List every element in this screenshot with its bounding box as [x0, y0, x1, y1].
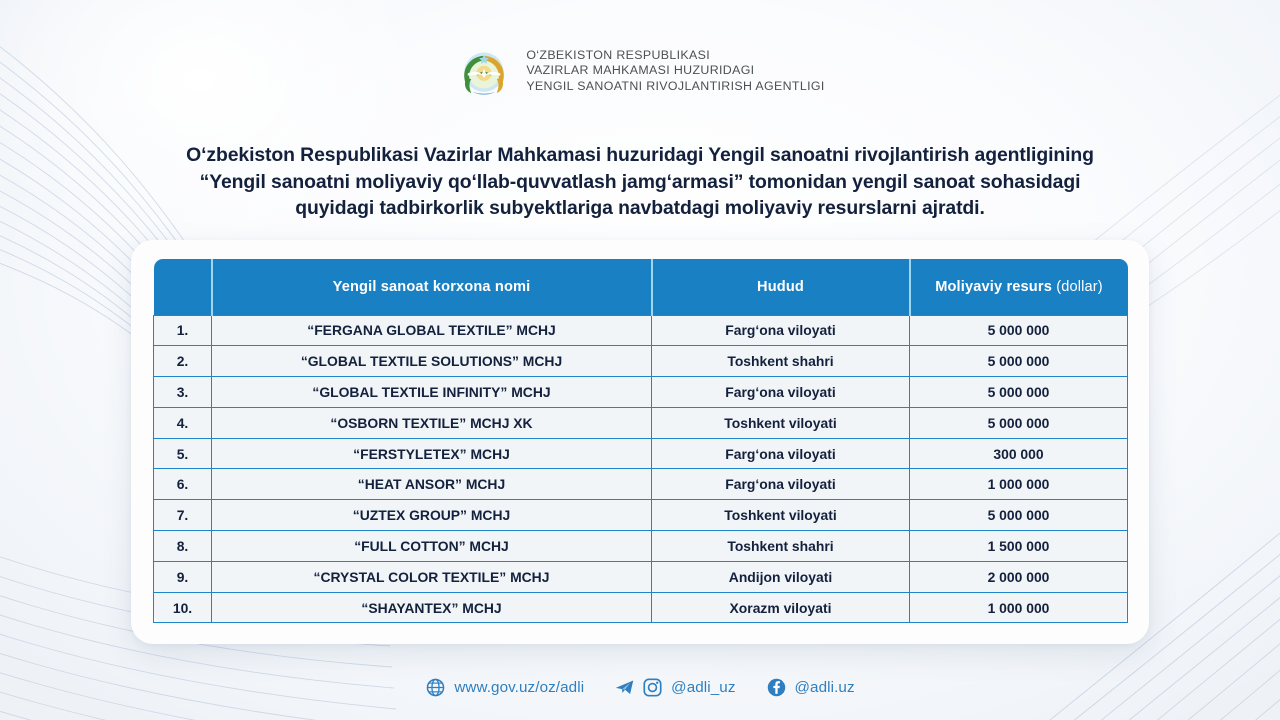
page-title: O‘zbekiston Respublikasi Vazirlar Mahkam… [160, 142, 1120, 222]
cell-region: Toshkent viloyati [652, 500, 910, 531]
cell-region: Toshkent shahri [652, 531, 910, 562]
facebook-handle-label: @adli.uz [795, 679, 855, 696]
table-row: 6.“HEAT ANSOR” MCHJFarg‘ona viloyati1 00… [154, 469, 1128, 500]
cell-number: 1. [154, 315, 212, 346]
cell-region: Andijon viloyati [652, 561, 910, 592]
table-row: 8.“FULL COTTON” MCHJToshkent shahri1 500… [154, 531, 1128, 562]
cell-number: 6. [154, 469, 212, 500]
cell-region: Farg‘ona viloyati [652, 377, 910, 408]
cell-company-name: “HEAT ANSOR” MCHJ [212, 469, 652, 500]
table-header-row: Yengil sanoat korxona nomi Hudud Moliyav… [154, 259, 1128, 315]
cell-company-name: “GLOBAL TEXTILE INFINITY” MCHJ [212, 377, 652, 408]
cell-company-name: “FERSTYLETEX” MCHJ [212, 438, 652, 469]
cell-company-name: “CRYSTAL COLOR TEXTILE” MCHJ [212, 561, 652, 592]
cell-number: 2. [154, 346, 212, 377]
table-row: 2.“GLOBAL TEXTILE SOLUTIONS” MCHJToshken… [154, 346, 1128, 377]
column-header-number [154, 259, 212, 315]
footer-website[interactable]: www.gov.uz/oz/adli [425, 677, 584, 698]
telegram-icon[interactable] [614, 677, 635, 698]
cell-amount: 1 000 000 [910, 469, 1128, 500]
cell-number: 9. [154, 561, 212, 592]
cell-company-name: “UZTEX GROUP” MCHJ [212, 500, 652, 531]
table-body: 1.“FERGANA GLOBAL TEXTILE” MCHJFarg‘ona … [154, 315, 1128, 623]
cell-amount: 5 000 000 [910, 500, 1128, 531]
cell-amount: 2 000 000 [910, 561, 1128, 592]
website-label: www.gov.uz/oz/adli [454, 679, 584, 696]
cell-company-name: “GLOBAL TEXTILE SOLUTIONS” MCHJ [212, 346, 652, 377]
cell-amount: 1 500 000 [910, 531, 1128, 562]
facebook-icon [766, 677, 787, 698]
column-header-company: Yengil sanoat korxona nomi [212, 259, 652, 315]
cell-amount: 1 000 000 [910, 592, 1128, 623]
table-row: 1.“FERGANA GLOBAL TEXTILE” MCHJFarg‘ona … [154, 315, 1128, 346]
cell-amount: 5 000 000 [910, 346, 1128, 377]
table-header: Yengil sanoat korxona nomi Hudud Moliyav… [154, 259, 1128, 315]
cell-amount: 5 000 000 [910, 407, 1128, 438]
cell-amount: 5 000 000 [910, 315, 1128, 346]
cell-region: Farg‘ona viloyati [652, 469, 910, 500]
organization-name: O‘ZBEKISTON RESPUBLIKASI VAZIRLAR MAHKAM… [526, 48, 824, 94]
cell-region: Farg‘ona viloyati [652, 438, 910, 469]
poster-page: O‘ZBEKISTON RESPUBLIKASI VAZIRLAR MAHKAM… [0, 0, 1280, 720]
table-row: 4.“OSBORN TEXTILE” MCHJ XKToshkent viloy… [154, 407, 1128, 438]
column-header-amount-unit: (dollar) [1056, 279, 1103, 295]
cell-company-name: “FULL COTTON” MCHJ [212, 531, 652, 562]
social-handle-label: @adli_uz [671, 679, 735, 696]
instagram-icon[interactable] [642, 677, 663, 698]
cell-region: Toshkent shahri [652, 346, 910, 377]
cell-company-name: “OSBORN TEXTILE” MCHJ XK [212, 407, 652, 438]
agency-header: O‘ZBEKISTON RESPUBLIKASI VAZIRLAR MAHKAM… [0, 42, 1280, 100]
globe-icon [425, 677, 446, 698]
cell-number: 7. [154, 500, 212, 531]
footer-social-handle[interactable]: @adli_uz [614, 677, 735, 698]
cell-amount: 5 000 000 [910, 377, 1128, 408]
table-row: 9.“CRYSTAL COLOR TEXTILE” MCHJAndijon vi… [154, 561, 1128, 592]
cell-region: Xorazm viloyati [652, 592, 910, 623]
cell-number: 10. [154, 592, 212, 623]
cell-amount: 300 000 [910, 438, 1128, 469]
cell-company-name: “FERGANA GLOBAL TEXTILE” MCHJ [212, 315, 652, 346]
column-header-amount-main: Moliyaviy resurs [935, 279, 1052, 295]
cell-region: Toshkent viloyati [652, 407, 910, 438]
table-row: 5.“FERSTYLETEX” MCHJFarg‘ona viloyati300… [154, 438, 1128, 469]
uzbekistan-state-emblem-icon [455, 42, 513, 100]
table-row: 10.“SHAYANTEX” MCHJXorazm viloyati1 000 … [154, 592, 1128, 623]
column-header-amount: Moliyaviy resurs (dollar) [910, 259, 1128, 315]
cell-number: 3. [154, 377, 212, 408]
table-row: 3.“GLOBAL TEXTILE INFINITY” MCHJFarg‘ona… [154, 377, 1128, 408]
cell-number: 4. [154, 407, 212, 438]
cell-region: Farg‘ona viloyati [652, 315, 910, 346]
footer-contacts: www.gov.uz/oz/adli @adli_uz @ [0, 677, 1280, 698]
funding-table: Yengil sanoat korxona nomi Hudud Moliyav… [153, 259, 1128, 623]
table-container: Yengil sanoat korxona nomi Hudud Moliyav… [153, 259, 1127, 623]
content-card: Yengil sanoat korxona nomi Hudud Moliyav… [131, 240, 1149, 644]
cell-company-name: “SHAYANTEX” MCHJ [212, 592, 652, 623]
cell-number: 8. [154, 531, 212, 562]
social-icon-group [614, 677, 663, 698]
footer-facebook[interactable]: @adli.uz [766, 677, 855, 698]
column-header-region: Hudud [652, 259, 910, 315]
table-row: 7.“UZTEX GROUP” MCHJToshkent viloyati5 0… [154, 500, 1128, 531]
cell-number: 5. [154, 438, 212, 469]
